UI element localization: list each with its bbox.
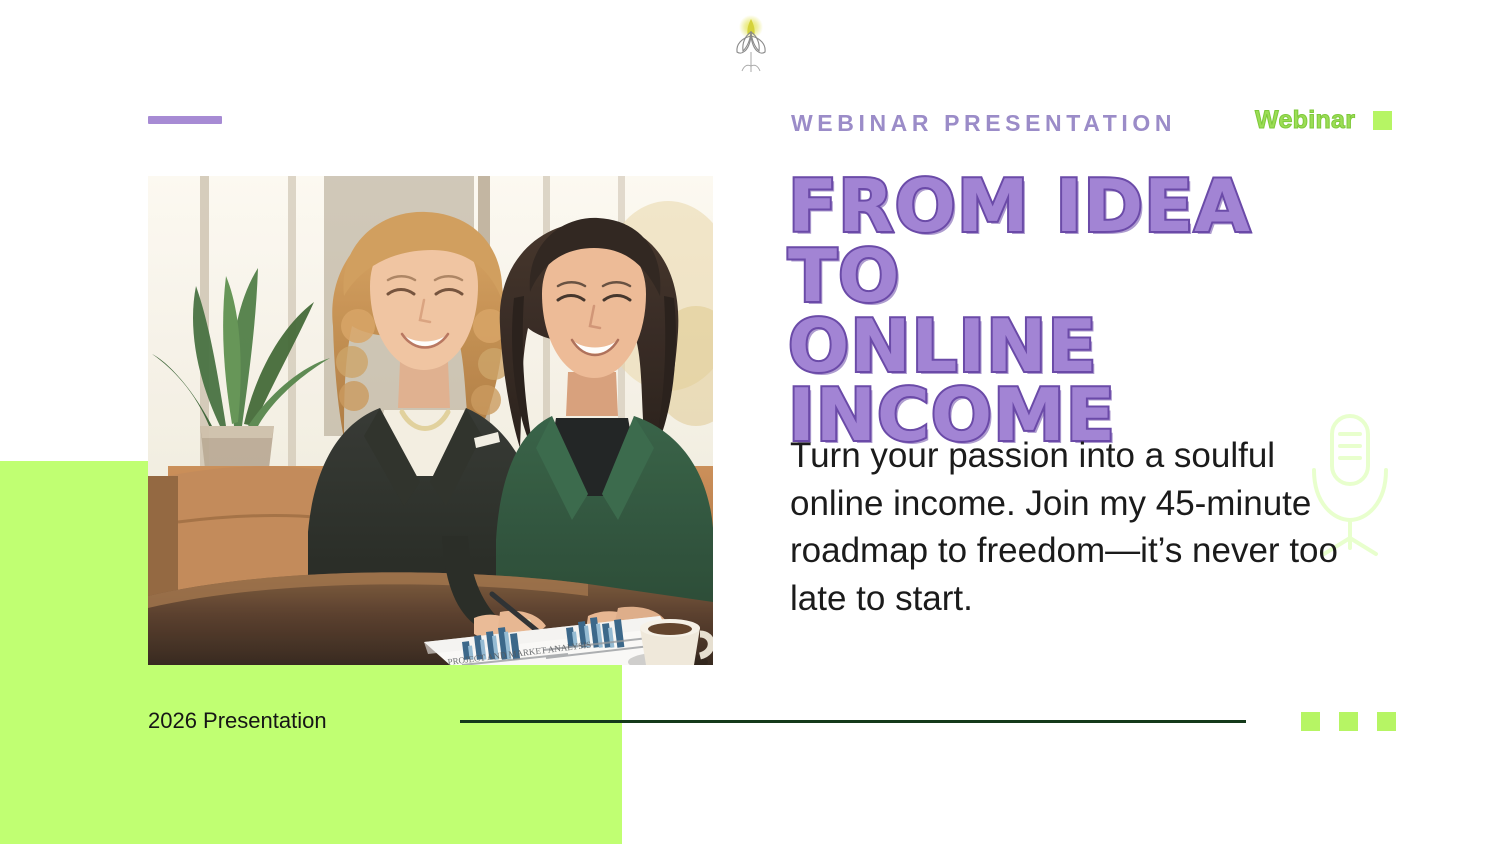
footer-square-icon-3	[1377, 712, 1396, 731]
hero-photo: PROJECT AND MARKET ANALYSIS	[148, 176, 713, 665]
slide-title: FROM IDEA TO ONLINE INCOME	[788, 172, 1388, 451]
footer-square-icon-1	[1301, 712, 1320, 731]
footer-label: 2026 Presentation	[148, 708, 327, 734]
webinar-tag: Webinar	[1255, 106, 1392, 135]
slide-title-line-2: ONLINE INCOME	[788, 312, 1388, 452]
footer-dots	[1301, 712, 1396, 731]
slide-title-line-1: FROM IDEA TO	[788, 172, 1388, 312]
webinar-tag-label: Webinar	[1255, 106, 1355, 135]
footer-square-icon-2	[1339, 712, 1358, 731]
webinar-tag-square-icon	[1373, 111, 1392, 130]
slide-body-text: Turn your passion into a soulful online …	[790, 432, 1350, 622]
presentation-slide: WEBINAR PRESENTATION Webinar	[0, 0, 1500, 844]
purple-dash-accent	[148, 116, 222, 124]
eyebrow-label: WEBINAR PRESENTATION	[791, 110, 1176, 137]
footer-divider	[460, 720, 1246, 723]
lotus-flame-logo	[724, 14, 778, 76]
